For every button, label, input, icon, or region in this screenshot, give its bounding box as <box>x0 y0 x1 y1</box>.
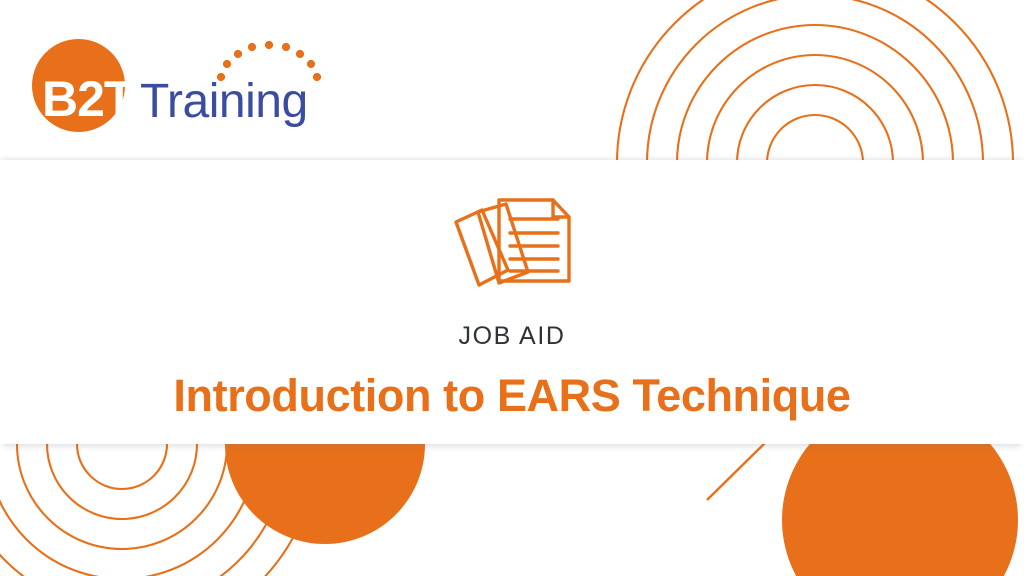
b2t-training-logo: B2T Training <box>28 34 348 138</box>
eyebrow-label: JOB AID <box>0 322 1024 351</box>
logo-mark-text: B2T <box>42 74 133 124</box>
diagonal-accent-line <box>707 443 765 500</box>
slide-canvas: B2T Training <box>0 0 1024 576</box>
page-title: Introduction to EARS Technique <box>0 370 1024 422</box>
stacked-documents-icon <box>452 186 582 301</box>
logo-wordmark-text: Training <box>140 78 308 126</box>
